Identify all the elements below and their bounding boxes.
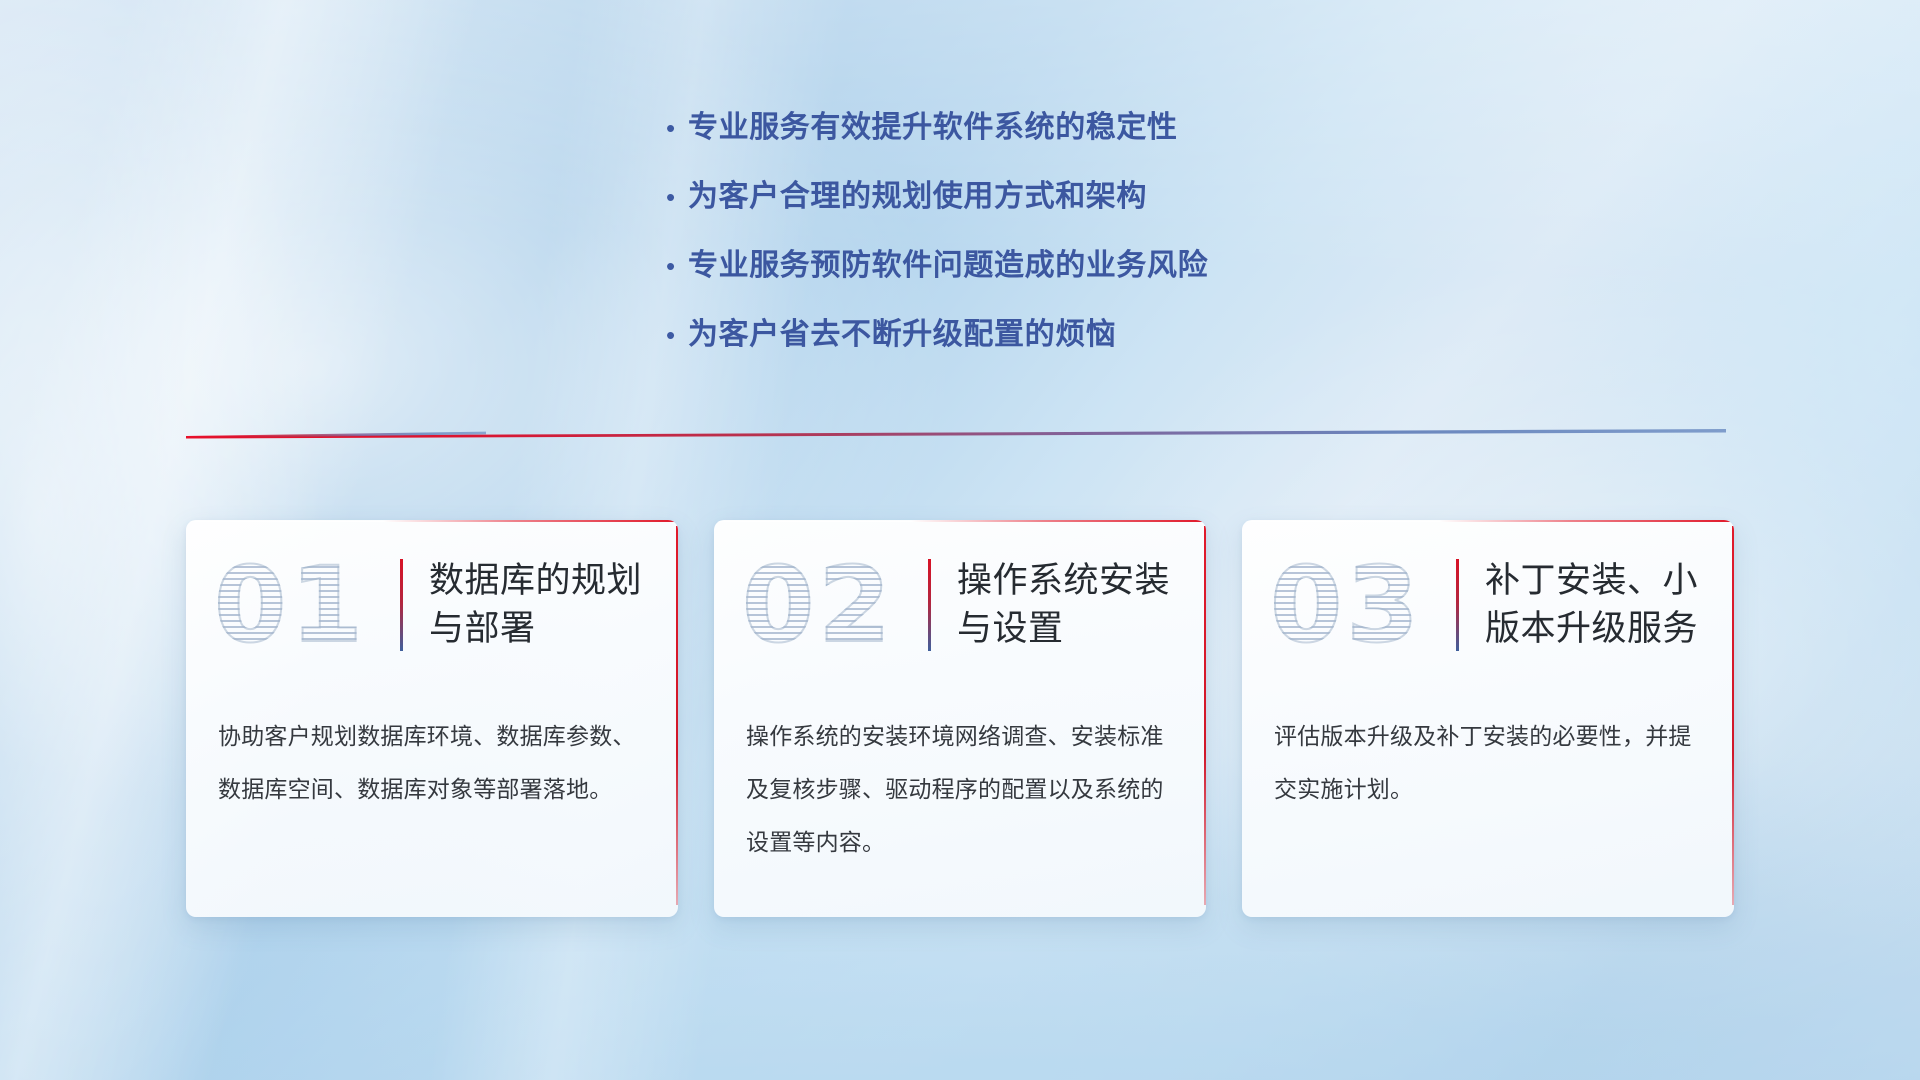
title-accent-bar [1456, 559, 1459, 651]
card-body-text: 评估版本升级及补丁安装的必要性，并提交实施计划。 [1242, 668, 1734, 816]
title-accent-bar [928, 559, 931, 651]
card-body-text: 协助客户规划数据库环境、数据库参数、数据库空间、数据库对象等部署落地。 [186, 668, 678, 816]
card-body-text: 操作系统的安装环境网络调查、安装标准及复核步骤、驱动程序的配置以及系统的设置等内… [714, 668, 1206, 869]
card-header: 02 操作系统安装 与设置 [714, 520, 1206, 668]
list-item: • 为客户省去不断升级配置的烦恼 [662, 315, 1208, 355]
bullet-text: 为客户合理的规划使用方式和架构 [688, 177, 1147, 217]
card-title: 数据库的规划 与部署 [429, 557, 642, 653]
card-title-line: 操作系统安装 [957, 557, 1170, 605]
card-title: 补丁安装、小 版本升级服务 [1485, 557, 1698, 653]
list-item: • 专业服务预防软件问题造成的业务风险 [662, 246, 1208, 286]
card-header: 03 补丁安装、小 版本升级服务 [1242, 520, 1734, 668]
title-accent-bar [400, 559, 403, 651]
card-title-line: 与部署 [429, 605, 642, 653]
feature-card-group: 01 数据库的规划 与部署 协助客户规划数据库环境、数据库参数、数据库空间、数据… [186, 520, 1734, 917]
card-header: 01 数据库的规划 与部署 [186, 520, 678, 668]
bullet-dot-icon: • [662, 246, 688, 286]
divider-line-icon [186, 425, 1726, 439]
feature-card[interactable]: 02 操作系统安装 与设置 操作系统的安装环境网络调查、安装标准及复核步骤、驱动… [714, 520, 1206, 917]
card-number: 01 [214, 546, 394, 664]
card-number: 02 [742, 546, 922, 664]
bullet-text: 专业服务预防软件问题造成的业务风险 [688, 246, 1208, 286]
card-title-line: 版本升级服务 [1485, 605, 1698, 653]
card-title-line: 补丁安装、小 [1485, 557, 1698, 605]
card-number: 03 [1270, 546, 1450, 664]
bullet-dot-icon: • [662, 315, 688, 355]
list-item: • 为客户合理的规划使用方式和架构 [662, 177, 1208, 217]
slide-canvas: • 专业服务有效提升软件系统的稳定性 • 为客户合理的规划使用方式和架构 • 专… [0, 0, 1920, 1080]
feature-card[interactable]: 01 数据库的规划 与部署 协助客户规划数据库环境、数据库参数、数据库空间、数据… [186, 520, 678, 917]
list-item: • 专业服务有效提升软件系统的稳定性 [662, 108, 1208, 148]
bullet-dot-icon: • [662, 177, 688, 217]
card-title-line: 与设置 [957, 605, 1170, 653]
bullet-dot-icon: • [662, 108, 688, 148]
bullet-list: • 专业服务有效提升软件系统的稳定性 • 为客户合理的规划使用方式和架构 • 专… [662, 108, 1208, 384]
card-title-line: 数据库的规划 [429, 557, 642, 605]
section-divider [186, 425, 1726, 439]
feature-card[interactable]: 03 补丁安装、小 版本升级服务 评估版本升级及补丁安装的必要性，并提交实施计划… [1242, 520, 1734, 917]
card-title: 操作系统安装 与设置 [957, 557, 1170, 653]
bullet-text: 专业服务有效提升软件系统的稳定性 [688, 108, 1178, 148]
bullet-text: 为客户省去不断升级配置的烦恼 [688, 315, 1116, 355]
